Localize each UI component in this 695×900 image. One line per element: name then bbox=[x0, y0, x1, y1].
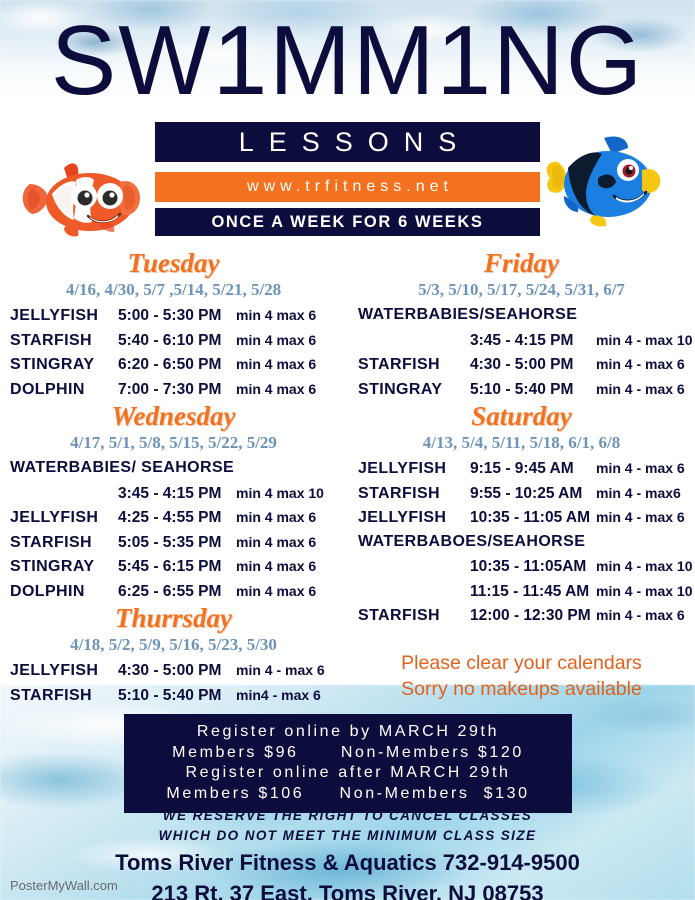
class-time: 4:30 - 5:00 PM bbox=[118, 659, 236, 684]
day-heading: Saturday bbox=[348, 401, 695, 431]
class-capacity: min 4 - max 6 bbox=[596, 456, 687, 481]
register-price-early: Members $96 Non-Members $120 bbox=[124, 743, 572, 764]
class-row: JELLYFISH5:00 - 5:30 PMmin 4 max 6 bbox=[10, 303, 339, 328]
class-row: STARFISH5:05 - 5:35 PMmin 4 max 6 bbox=[10, 530, 339, 555]
class-level: STARFISH bbox=[358, 604, 470, 629]
class-row: 10:35 - 11:05AMmin 4 - max 10 bbox=[358, 554, 687, 579]
class-capacity: min 4 - max 10 bbox=[596, 554, 693, 579]
class-time: 9:15 - 9:45 AM bbox=[470, 457, 596, 482]
class-rows: JELLYFISH9:15 - 9:45 AMmin 4 - max 6STAR… bbox=[348, 456, 695, 628]
day-heading: Friday bbox=[348, 248, 695, 278]
class-level: JELLYFISH bbox=[10, 506, 118, 531]
class-time: 6:25 - 6:55 PM bbox=[118, 580, 236, 605]
day-heading: Tuesday bbox=[0, 248, 347, 278]
class-time: 10:35 - 11:05AM bbox=[470, 555, 596, 580]
class-level: STARFISH bbox=[10, 531, 118, 556]
class-capacity: min 4 max 6 bbox=[236, 328, 339, 353]
notice-line-1: Please clear your calendars bbox=[348, 650, 695, 676]
class-capacity: min 4 max 6 bbox=[236, 554, 339, 579]
class-level: JELLYFISH bbox=[10, 304, 118, 329]
day-block: Wednesday4/17, 5/1, 5/8, 5/15, 5/22, 5/2… bbox=[0, 401, 347, 603]
class-rows: WATERBABIES/ SEAHORSE 3:45 - 4:15 PMmin … bbox=[0, 456, 347, 603]
class-row: 3:45 - 4:15 PMmin 4 - max 10 bbox=[358, 328, 687, 353]
class-capacity: min 4 max 10 bbox=[236, 481, 339, 506]
class-level: JELLYFISH bbox=[358, 506, 470, 531]
class-rows: JELLYFISH4:30 - 5:00 PMmin 4 - max 6STAR… bbox=[0, 658, 347, 707]
class-capacity: min 4 - max 6 bbox=[596, 352, 687, 377]
disclaimer-line-1: WE RESERVE THE RIGHT TO CANCEL CLASSES bbox=[0, 806, 695, 826]
class-capacity: min 4 max 6 bbox=[236, 579, 339, 604]
class-capacity: min 4 - max 6 bbox=[236, 658, 339, 683]
class-capacity: min 4 max 6 bbox=[236, 352, 339, 377]
website-banner[interactable]: www.trfitness.net bbox=[155, 172, 540, 202]
class-time: 5:45 - 6:15 PM bbox=[118, 555, 236, 580]
class-row: WATERBABIES/SEAHORSE bbox=[358, 303, 687, 328]
frequency-banner: ONCE A WEEK FOR 6 WEEKS bbox=[155, 208, 540, 236]
class-row: STINGRAY5:10 - 5:40 PMmin 4 - max 6 bbox=[358, 377, 687, 402]
class-rows: WATERBABIES/SEAHORSE 3:45 - 4:15 PMmin 4… bbox=[348, 303, 695, 401]
class-capacity: min4 - max 6 bbox=[236, 683, 339, 708]
register-deadline-early: Register online by MARCH 29th bbox=[124, 722, 572, 743]
notice-line-2: Sorry no makeups available bbox=[348, 676, 695, 702]
class-level: STARFISH bbox=[358, 353, 470, 378]
class-time: 11:15 - 11:45 AM bbox=[470, 580, 596, 605]
class-capacity: min 4 max 6 bbox=[236, 530, 339, 555]
class-capacity: min 4 - max 6 bbox=[596, 505, 687, 530]
class-time: 9:55 - 10:25 AM bbox=[470, 482, 596, 507]
class-row: STARFISH5:10 - 5:40 PMmin4 - max 6 bbox=[10, 683, 339, 708]
class-level: WATERBABIES/ SEAHORSE bbox=[10, 456, 234, 481]
class-capacity: min 4 max 6 bbox=[236, 505, 339, 530]
class-time: 5:10 - 5:40 PM bbox=[118, 684, 236, 709]
class-level: DOLPHIN bbox=[10, 378, 118, 403]
class-capacity: min 4 max 6 bbox=[236, 303, 339, 328]
class-level: DOLPHIN bbox=[10, 580, 118, 605]
class-time: 7:00 - 7:30 PM bbox=[118, 378, 236, 403]
class-row: WATERBABIES/ SEAHORSE bbox=[10, 456, 339, 481]
class-time: 4:30 - 5:00 PM bbox=[470, 353, 596, 378]
class-level: WATERBABOES/SEAHORSE bbox=[358, 530, 585, 555]
class-time: 5:05 - 5:35 PM bbox=[118, 531, 236, 556]
class-capacity: min 4 - max 10 bbox=[596, 579, 693, 604]
class-row: DOLPHIN7:00 - 7:30 PMmin 4 max 6 bbox=[10, 377, 339, 402]
class-capacity: min 4 - max6 bbox=[596, 481, 687, 506]
contact-name-phone: Toms River Fitness & Aquatics 732-914-95… bbox=[0, 848, 695, 877]
blue-tang-dory-icon bbox=[542, 132, 668, 232]
class-level: STINGRAY bbox=[10, 353, 118, 378]
class-time: 3:45 - 4:15 PM bbox=[470, 329, 596, 354]
class-row: STARFISH4:30 - 5:00 PMmin 4 - max 6 bbox=[358, 352, 687, 377]
day-block: Saturday4/13, 5/4, 5/11, 5/18, 6/1, 6/8J… bbox=[348, 401, 695, 628]
postermywall-watermark: PosterMyWall.com bbox=[10, 878, 118, 893]
class-row: STINGRAY6:20 - 6:50 PMmin 4 max 6 bbox=[10, 352, 339, 377]
swimming-lessons-flyer: SW1MM1NG LESSONS www.trfitness.net ONCE … bbox=[0, 0, 695, 900]
class-row: STARFISH9:55 - 10:25 AMmin 4 - max6 bbox=[358, 481, 687, 506]
class-capacity: min 4 - max 6 bbox=[596, 603, 687, 628]
class-row: JELLYFISH4:30 - 5:00 PMmin 4 - max 6 bbox=[10, 658, 339, 683]
register-price-late: Members $106 Non-Members $130 bbox=[124, 784, 572, 805]
notice-message: Please clear your calendars Sorry no mak… bbox=[348, 650, 695, 702]
day-block: Friday5/3, 5/10, 5/17, 5/24, 5/31, 6/7WA… bbox=[348, 248, 695, 401]
class-rows: JELLYFISH5:00 - 5:30 PMmin 4 max 6STARFI… bbox=[0, 303, 347, 401]
day-dates: 4/18, 5/2, 5/9, 5/16, 5/23, 5/30 bbox=[0, 634, 347, 656]
schedule-column-right: Friday5/3, 5/10, 5/17, 5/24, 5/31, 6/7WA… bbox=[348, 248, 695, 628]
clownfish-nemo-icon bbox=[18, 152, 146, 244]
disclaimer-line-2: WHICH DO NOT MEET THE MINIMUM CLASS SIZE bbox=[0, 826, 695, 846]
schedule-column-left: Tuesday4/16, 4/30, 5/7 ,5/14, 5/21, 5/28… bbox=[0, 248, 347, 707]
day-heading: Thurrsday bbox=[0, 603, 347, 633]
class-row: WATERBABOES/SEAHORSE bbox=[358, 530, 687, 555]
day-block: Tuesday4/16, 4/30, 5/7 ,5/14, 5/21, 5/28… bbox=[0, 248, 347, 401]
page-title: SW1MM1NG bbox=[0, 10, 695, 110]
class-row: STINGRAY5:45 - 6:15 PMmin 4 max 6 bbox=[10, 554, 339, 579]
class-level: STARFISH bbox=[358, 482, 470, 507]
class-level: JELLYFISH bbox=[10, 659, 118, 684]
class-level: WATERBABIES/SEAHORSE bbox=[358, 303, 577, 328]
day-block: Thurrsday4/18, 5/2, 5/9, 5/16, 5/23, 5/3… bbox=[0, 603, 347, 707]
class-row: 11:15 - 11:45 AMmin 4 - max 10 bbox=[358, 579, 687, 604]
day-heading: Wednesday bbox=[0, 401, 347, 431]
class-level: STINGRAY bbox=[10, 555, 118, 580]
class-row: STARFISH12:00 - 12:30 PMmin 4 - max 6 bbox=[358, 603, 687, 628]
class-time: 10:35 - 11:05 AM bbox=[470, 506, 596, 531]
class-level: STARFISH bbox=[10, 329, 118, 354]
day-dates: 4/17, 5/1, 5/8, 5/15, 5/22, 5/29 bbox=[0, 432, 347, 454]
register-deadline-late: Register online after MARCH 29th bbox=[124, 763, 572, 784]
class-time: 12:00 - 12:30 PM bbox=[470, 604, 596, 629]
registration-pricing-box: Register online by MARCH 29th Members $9… bbox=[124, 714, 572, 813]
day-dates: 4/16, 4/30, 5/7 ,5/14, 5/21, 5/28 bbox=[0, 279, 347, 301]
class-row: 3:45 - 4:15 PMmin 4 max 10 bbox=[10, 481, 339, 506]
class-level: STINGRAY bbox=[358, 378, 470, 403]
day-dates: 5/3, 5/10, 5/17, 5/24, 5/31, 6/7 bbox=[348, 279, 695, 301]
class-time: 3:45 - 4:15 PM bbox=[118, 482, 236, 507]
class-row: STARFISH5:40 - 6:10 PMmin 4 max 6 bbox=[10, 328, 339, 353]
class-row: JELLYFISH4:25 - 4:55 PMmin 4 max 6 bbox=[10, 505, 339, 530]
class-time: 5:40 - 6:10 PM bbox=[118, 329, 236, 354]
class-level: STARFISH bbox=[10, 684, 118, 709]
class-capacity: min 4 - max 10 bbox=[596, 328, 693, 353]
class-time: 5:00 - 5:30 PM bbox=[118, 304, 236, 329]
class-capacity: min 4 max 6 bbox=[236, 377, 339, 402]
class-row: JELLYFISH10:35 - 11:05 AMmin 4 - max 6 bbox=[358, 505, 687, 530]
class-level: JELLYFISH bbox=[358, 457, 470, 482]
class-capacity: min 4 - max 6 bbox=[596, 377, 687, 402]
class-time: 4:25 - 4:55 PM bbox=[118, 506, 236, 531]
lessons-banner: LESSONS bbox=[155, 122, 540, 162]
class-row: JELLYFISH9:15 - 9:45 AMmin 4 - max 6 bbox=[358, 456, 687, 481]
class-time: 6:20 - 6:50 PM bbox=[118, 353, 236, 378]
class-row: DOLPHIN6:25 - 6:55 PMmin 4 max 6 bbox=[10, 579, 339, 604]
day-dates: 4/13, 5/4, 5/11, 5/18, 6/1, 6/8 bbox=[348, 432, 695, 454]
class-time: 5:10 - 5:40 PM bbox=[470, 378, 596, 403]
